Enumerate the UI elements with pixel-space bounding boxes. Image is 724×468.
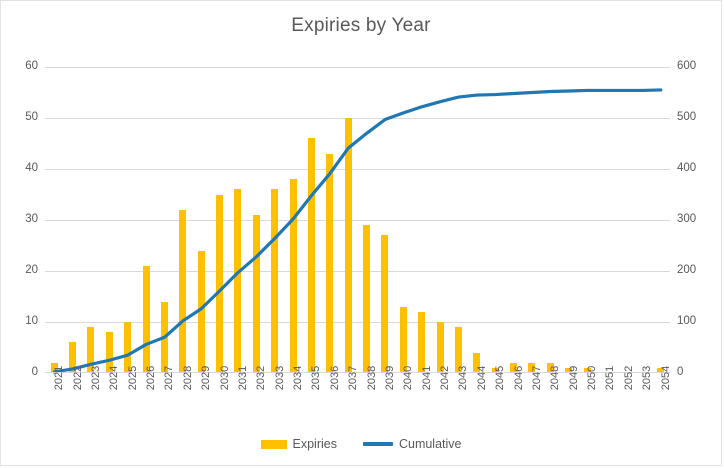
y-tick-left: 0	[32, 367, 38, 379]
bar-slot	[210, 67, 228, 373]
bar-slot	[45, 67, 63, 373]
x-label-slot: 2040	[394, 376, 412, 421]
x-label-slot: 2031	[229, 376, 247, 421]
bar-slot	[155, 67, 173, 373]
y-tick-right: 600	[677, 61, 696, 73]
bar-slot	[504, 67, 522, 373]
bar[interactable]	[400, 307, 407, 373]
x-label-slot: 2052	[615, 376, 633, 421]
bar-slot	[63, 67, 81, 373]
legend-item-cumulative[interactable]: Cumulative	[363, 437, 462, 451]
x-label-slot: 2021	[45, 376, 63, 421]
x-label-slot: 2048	[541, 376, 559, 421]
x-tick-label: 2054	[661, 366, 672, 390]
bar-slot	[357, 67, 375, 373]
y-tick-left: 20	[25, 265, 38, 277]
bar-slot	[486, 67, 504, 373]
bar[interactable]	[326, 154, 333, 373]
x-label-slot: 2042	[431, 376, 449, 421]
x-label-slot: 2028	[174, 376, 192, 421]
y-tick-right: 300	[677, 214, 696, 226]
x-label-slot: 2029	[192, 376, 210, 421]
bar-slot	[174, 67, 192, 373]
x-axis-labels: 2021202220232024202520262027202820292030…	[45, 376, 670, 421]
plot-area: 6050403020100 6005004003002001000	[45, 67, 670, 373]
x-label-slot: 2024	[100, 376, 118, 421]
bar-slot	[192, 67, 210, 373]
x-label-slot: 2025	[119, 376, 137, 421]
y-tick-left: 40	[25, 163, 38, 175]
bar[interactable]	[418, 312, 425, 373]
bar-slot	[266, 67, 284, 373]
x-label-slot: 2041	[413, 376, 431, 421]
bar-slot	[596, 67, 614, 373]
x-label-slot: 2053	[633, 376, 651, 421]
x-label-slot: 2045	[486, 376, 504, 421]
bar-slot	[615, 67, 633, 373]
bar[interactable]	[161, 302, 168, 373]
bar-slot	[560, 67, 578, 373]
bar[interactable]	[216, 195, 223, 374]
y-tick-left: 60	[25, 61, 38, 73]
bar-slot	[302, 67, 320, 373]
chart-container: Expiries by Year 6050403020100 600500400…	[0, 0, 722, 466]
line-swatch-icon	[363, 442, 393, 446]
bar-slot	[229, 67, 247, 373]
x-label-slot: 2046	[504, 376, 522, 421]
x-label-slot: 2047	[523, 376, 541, 421]
bar[interactable]	[381, 235, 388, 373]
x-label-slot: 2044	[468, 376, 486, 421]
y-tick-right: 200	[677, 265, 696, 277]
x-label-slot: 2032	[247, 376, 265, 421]
bar-slot	[413, 67, 431, 373]
y-tick-right: 100	[677, 316, 696, 328]
x-label-slot: 2026	[137, 376, 155, 421]
bar-slot	[339, 67, 357, 373]
x-label-slot: 2043	[449, 376, 467, 421]
x-label-slot: 2038	[357, 376, 375, 421]
bar-slot	[431, 67, 449, 373]
x-label-slot: 2035	[302, 376, 320, 421]
x-label-slot: 2034	[284, 376, 302, 421]
bar[interactable]	[363, 225, 370, 373]
bar-series-expiries	[45, 67, 670, 373]
bar-slot	[100, 67, 118, 373]
y-tick-right: 400	[677, 163, 696, 175]
x-label-slot: 2037	[339, 376, 357, 421]
bar-slot	[82, 67, 100, 373]
y-tick-right: 0	[677, 367, 683, 379]
bar-slot	[523, 67, 541, 373]
x-label-slot: 2027	[155, 376, 173, 421]
y-tick-left: 50	[25, 112, 38, 124]
bar-swatch-icon	[261, 440, 287, 449]
y-tick-right: 500	[677, 112, 696, 124]
bar[interactable]	[290, 179, 297, 373]
bar[interactable]	[253, 215, 260, 373]
bar[interactable]	[308, 138, 315, 373]
chart-legend: Expiries Cumulative	[1, 437, 721, 451]
legend-label-cumulative: Cumulative	[399, 437, 462, 451]
bar-slot	[578, 67, 596, 373]
bar-slot	[651, 67, 669, 373]
bar[interactable]	[198, 251, 205, 373]
x-label-slot: 2051	[596, 376, 614, 421]
bar[interactable]	[143, 266, 150, 373]
x-label-slot: 2033	[266, 376, 284, 421]
bar-slot	[376, 67, 394, 373]
bar-slot	[633, 67, 651, 373]
bar-slot	[394, 67, 412, 373]
x-label-slot: 2054	[651, 376, 669, 421]
x-label-slot: 2023	[82, 376, 100, 421]
x-label-slot: 2036	[321, 376, 339, 421]
bar-slot	[321, 67, 339, 373]
bar-slot	[137, 67, 155, 373]
bar-slot	[119, 67, 137, 373]
bar-slot	[541, 67, 559, 373]
legend-label-expiries: Expiries	[293, 437, 337, 451]
bar-slot	[247, 67, 265, 373]
bar[interactable]	[179, 210, 186, 373]
x-label-slot: 2022	[63, 376, 81, 421]
bar[interactable]	[271, 189, 278, 373]
y-tick-left: 10	[25, 316, 38, 328]
bar-slot	[449, 67, 467, 373]
y-tick-left: 30	[25, 214, 38, 226]
legend-item-expiries[interactable]: Expiries	[261, 437, 337, 451]
bar[interactable]	[345, 118, 352, 373]
bar[interactable]	[234, 189, 241, 373]
x-label-slot: 2039	[376, 376, 394, 421]
bar-slot	[284, 67, 302, 373]
bar-slot	[468, 67, 486, 373]
chart-title: Expiries by Year	[1, 15, 721, 37]
x-label-slot: 2049	[560, 376, 578, 421]
x-label-slot: 2050	[578, 376, 596, 421]
x-label-slot: 2030	[210, 376, 228, 421]
